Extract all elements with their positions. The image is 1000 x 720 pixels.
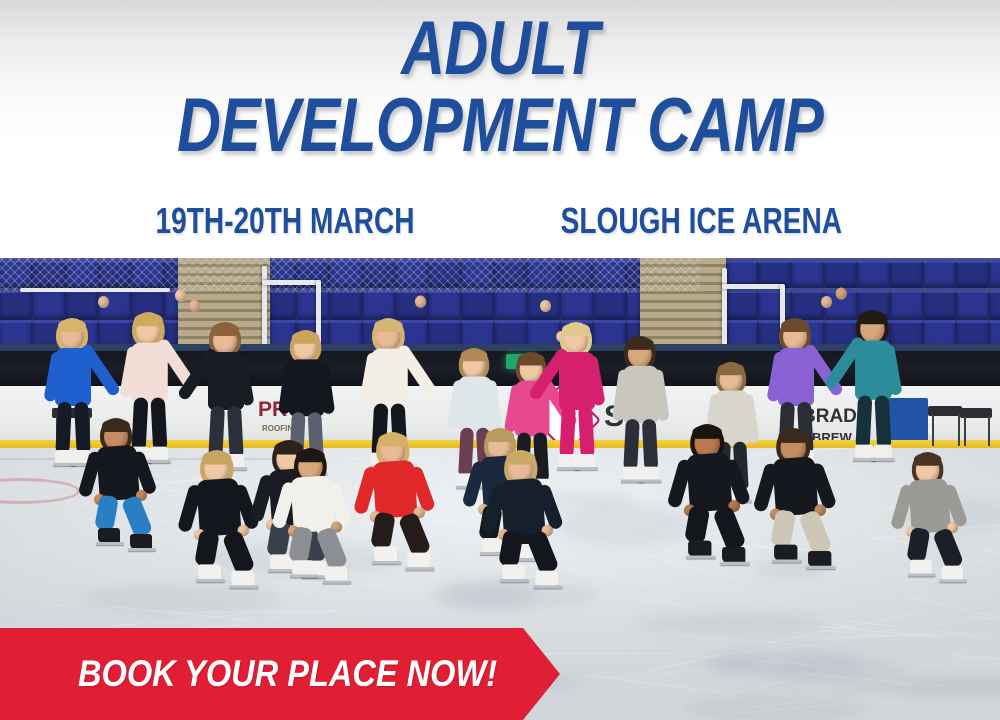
- poster-title-line-2: DEVELOPMENT CAMP: [100, 91, 900, 162]
- ice-skate: [873, 445, 891, 459]
- ice-skate: [941, 566, 963, 581]
- stadium-seat: [462, 290, 495, 320]
- chair-leg-r1: [932, 414, 934, 446]
- chair-leg-r4: [988, 416, 990, 446]
- ice-skate: [535, 571, 558, 587]
- leg-left: [55, 402, 72, 455]
- leg-right: [74, 402, 91, 455]
- hair-fringe: [58, 319, 86, 332]
- ice-skate: [641, 467, 659, 481]
- hair-fringe: [858, 311, 887, 324]
- hand-raised: [821, 296, 832, 308]
- stadium-seat: [759, 290, 792, 320]
- safety-netting: [0, 258, 700, 292]
- leg-left: [623, 419, 640, 471]
- poster-header: ADULT DEVELOPMENT CAMP 19TH-20TH MARCH S…: [0, 0, 1000, 258]
- handrail-e: [722, 284, 784, 289]
- ice-scratch: [359, 583, 429, 593]
- hand-raised: [175, 290, 186, 302]
- hand-raised: [98, 296, 109, 308]
- hair-fringe: [374, 319, 403, 332]
- skate-blade: [908, 574, 935, 577]
- hair-fringe: [914, 453, 941, 466]
- poster-root: ADULT DEVELOPMENT CAMP 19TH-20TH MARCH S…: [0, 0, 1000, 720]
- ice-shading: [835, 679, 1000, 694]
- leg-right: [642, 419, 659, 471]
- hair-fringe: [518, 353, 545, 365]
- ice-skate: [407, 553, 430, 569]
- ice-skate: [774, 545, 797, 561]
- hand-raised: [836, 288, 847, 300]
- leg-left: [131, 397, 148, 451]
- hair-fringe: [102, 419, 130, 432]
- skate-blade: [772, 559, 802, 562]
- hair-fringe: [692, 425, 722, 439]
- ice-scratch: [253, 582, 330, 583]
- ice-skate: [231, 571, 254, 587]
- hair-fringe: [378, 433, 407, 447]
- hair-fringe: [778, 429, 808, 443]
- ice-skate: [325, 566, 347, 581]
- ice-shading: [634, 612, 831, 634]
- stadium-seat: [924, 260, 957, 288]
- hand-raised: [540, 300, 551, 312]
- ice-skate: [292, 560, 314, 575]
- stadium-seat: [924, 290, 957, 320]
- skate-blade: [575, 467, 598, 470]
- skate-blade: [128, 548, 156, 551]
- book-now-banner[interactable]: BOOK YOUR PLACE NOW!: [0, 628, 560, 720]
- skate-blade: [290, 574, 319, 577]
- chair-leg-r2: [958, 414, 960, 446]
- leg-right: [227, 406, 244, 459]
- stadium-seat: [330, 290, 363, 320]
- hand-raised: [415, 296, 426, 308]
- hair-fringe: [202, 451, 231, 465]
- stadium-seat: [726, 290, 759, 320]
- hair-fringe: [292, 331, 319, 344]
- skate-blade: [533, 585, 562, 588]
- stadium-seat: [825, 260, 858, 288]
- skate-blade: [196, 579, 225, 582]
- skate-blade: [871, 458, 894, 461]
- ice-scratch: [971, 532, 1000, 549]
- skate-blade: [806, 566, 836, 569]
- event-venue: SLOUGH ICE ARENA: [560, 200, 841, 242]
- board-ad-panel: [888, 398, 928, 446]
- hand-raised: [189, 300, 200, 312]
- leg-right: [150, 397, 167, 451]
- ice-shading: [684, 693, 867, 720]
- ice-scratch: [588, 599, 670, 609]
- stadium-seat: [957, 260, 990, 288]
- hair-fringe: [781, 319, 809, 332]
- ice-skate: [149, 447, 167, 461]
- ice-scratch: [26, 548, 52, 552]
- stadium-seat: [495, 290, 528, 320]
- ice-scratch: [824, 467, 861, 472]
- skate-blade: [639, 480, 662, 483]
- hair-fringe: [506, 451, 535, 465]
- ice-skate: [577, 454, 595, 468]
- skate-blade: [229, 585, 258, 588]
- ice-skate: [198, 564, 221, 580]
- hair-fringe: [211, 323, 239, 336]
- ice-scratch: [871, 699, 902, 706]
- stadium-seat: [297, 290, 330, 320]
- ice-scratch: [564, 570, 678, 574]
- stadium-seat: [66, 290, 99, 320]
- stadium-seat: [792, 260, 825, 288]
- handrail-a: [262, 266, 267, 350]
- hair-fringe: [461, 349, 488, 361]
- stadium-seat: [990, 290, 1000, 320]
- skate-blade: [405, 567, 434, 570]
- stadium-seat: [363, 290, 396, 320]
- stadium-seat: [561, 290, 594, 320]
- hair-fringe: [296, 449, 325, 462]
- skate-blade: [500, 579, 529, 582]
- ice-shading: [556, 505, 694, 546]
- skate-blade: [939, 579, 966, 582]
- handrail-b: [262, 280, 320, 285]
- ice-skate: [98, 528, 120, 543]
- stadium-seat: [957, 290, 990, 320]
- stadium-seat: [990, 260, 1000, 288]
- ice-scratch: [115, 623, 142, 626]
- skate-blade: [372, 561, 401, 564]
- ice-scratch: [582, 674, 734, 695]
- hair-fringe: [562, 323, 590, 336]
- stadium-seat: [891, 260, 924, 288]
- ice-skate: [374, 546, 397, 562]
- ice-skate: [623, 467, 641, 481]
- ice-scratch: [339, 448, 362, 450]
- hair-fringe: [486, 429, 514, 442]
- hair-fringe: [626, 337, 654, 350]
- book-now-label: BOOK YOUR PLACE NOW!: [78, 628, 497, 720]
- ice-skate: [910, 560, 932, 575]
- ice-skate: [502, 564, 525, 580]
- leg-left: [855, 395, 872, 449]
- event-date: 19TH-20TH MARCH: [155, 200, 414, 242]
- ice-scratch: [130, 570, 192, 579]
- ice-skate: [559, 454, 577, 468]
- title-block: ADULT DEVELOPMENT CAMP: [0, 14, 1000, 161]
- hair-fringe: [134, 313, 163, 326]
- stadium-seat: [594, 290, 627, 320]
- poster-title-line-1: ADULT: [100, 14, 900, 85]
- leg-left: [559, 406, 576, 459]
- skate-blade: [720, 562, 750, 565]
- handrail-g: [20, 288, 170, 292]
- chair-leg-r3: [964, 416, 966, 446]
- stadium-seat: [858, 260, 891, 288]
- ice-skate: [55, 450, 73, 464]
- stadium-seat: [33, 290, 66, 320]
- ice-skate: [722, 547, 745, 563]
- ice-skate: [808, 551, 831, 567]
- skate-blade: [323, 581, 352, 584]
- stadium-seat: [429, 290, 462, 320]
- ice-scratch: [953, 655, 1000, 662]
- ice-skate: [855, 445, 873, 459]
- stadium-seat: [792, 290, 825, 320]
- ice-shading: [445, 580, 598, 609]
- skate-blade: [147, 460, 170, 463]
- ice-skate: [688, 541, 711, 557]
- subtitle-row: 19TH-20TH MARCH SLOUGH ICE ARENA: [0, 200, 1000, 242]
- stadium-seat: [0, 290, 33, 320]
- ice-scratch: [607, 576, 663, 589]
- leg-right: [874, 395, 891, 449]
- ice-skate: [130, 534, 152, 549]
- stadium-seat: [891, 290, 924, 320]
- skate-blade: [96, 542, 124, 545]
- leg-right: [578, 406, 595, 459]
- handrail-d: [722, 268, 727, 350]
- hair-fringe: [718, 363, 745, 375]
- skate-blade: [686, 555, 716, 558]
